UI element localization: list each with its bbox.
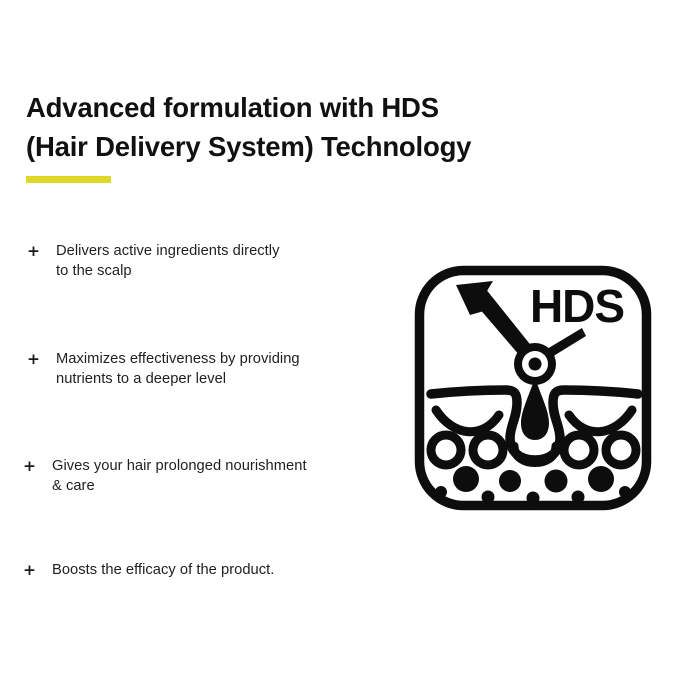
nutrient-dot <box>499 470 521 492</box>
nutrient-dot <box>588 466 614 492</box>
hub-center-dot <box>529 358 542 371</box>
nutrient-dot <box>453 466 479 492</box>
plus-icon: + <box>27 241 41 261</box>
plus-icon: + <box>23 456 37 476</box>
plus-icon: + <box>23 560 37 580</box>
hds-icon-svg: HDS <box>409 260 657 516</box>
nutrient-dot-small <box>482 491 495 504</box>
page-title: Advanced formulation with HDS (Hair Deli… <box>26 88 616 166</box>
hds-feature-panel: Advanced formulation with HDS (Hair Deli… <box>0 0 700 700</box>
plus-icon: + <box>27 349 41 369</box>
list-item: + Delivers active ingredients directly t… <box>27 241 279 281</box>
list-item: + Boosts the efficacy of the product. <box>23 560 274 580</box>
list-item: + Gives your hair prolonged nourishment … <box>23 456 307 496</box>
nutrient-dot-small <box>619 486 631 498</box>
list-item-label: Delivers active ingredients directly to … <box>56 241 279 281</box>
hds-label: HDS <box>530 280 624 332</box>
nutrient-dot <box>545 470 568 493</box>
list-item-label: Maximizes effectiveness by providing nut… <box>56 349 300 389</box>
nutrient-dot-small <box>527 492 540 505</box>
heading-block: Advanced formulation with HDS (Hair Deli… <box>26 88 616 166</box>
list-item: + Maximizes effectiveness by providing n… <box>27 349 300 389</box>
list-item-label: Boosts the efficacy of the product. <box>52 560 274 580</box>
nutrient-dot-small <box>435 486 447 498</box>
hds-technology-icon: HDS <box>409 260 657 516</box>
nutrient-dot-small <box>572 491 585 504</box>
title-accent-underline <box>26 176 111 183</box>
list-item-label: Gives your hair prolonged nourishment & … <box>52 456 307 496</box>
